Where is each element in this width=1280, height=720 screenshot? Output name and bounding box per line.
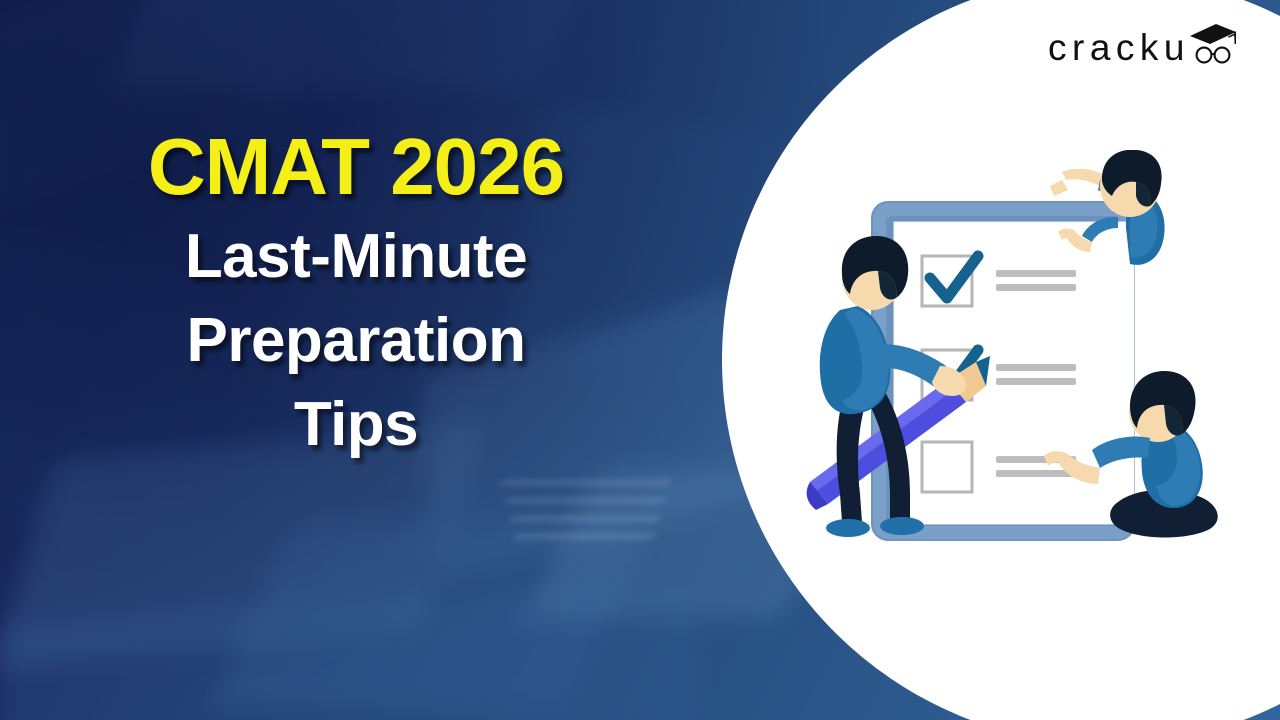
brand-logo-text: cracku: [1048, 29, 1190, 66]
checklist-clipboard-illustration: [800, 150, 1260, 570]
thumbnail-canvas: cracku CMAT 2026 Last-Minute Preparation…: [0, 0, 1280, 720]
headline-subtitle-line-2: Preparation: [0, 306, 712, 376]
brand-logo[interactable]: cracku: [1048, 22, 1238, 66]
headline-subtitle-line-1: Last-Minute: [0, 222, 712, 292]
graduation-cap-glasses-icon: [1186, 22, 1238, 66]
headline-subtitle-line-3: Tips: [0, 390, 712, 460]
headline-title: CMAT 2026: [0, 126, 712, 208]
headline-block: CMAT 2026 Last-Minute Preparation Tips: [0, 126, 712, 460]
